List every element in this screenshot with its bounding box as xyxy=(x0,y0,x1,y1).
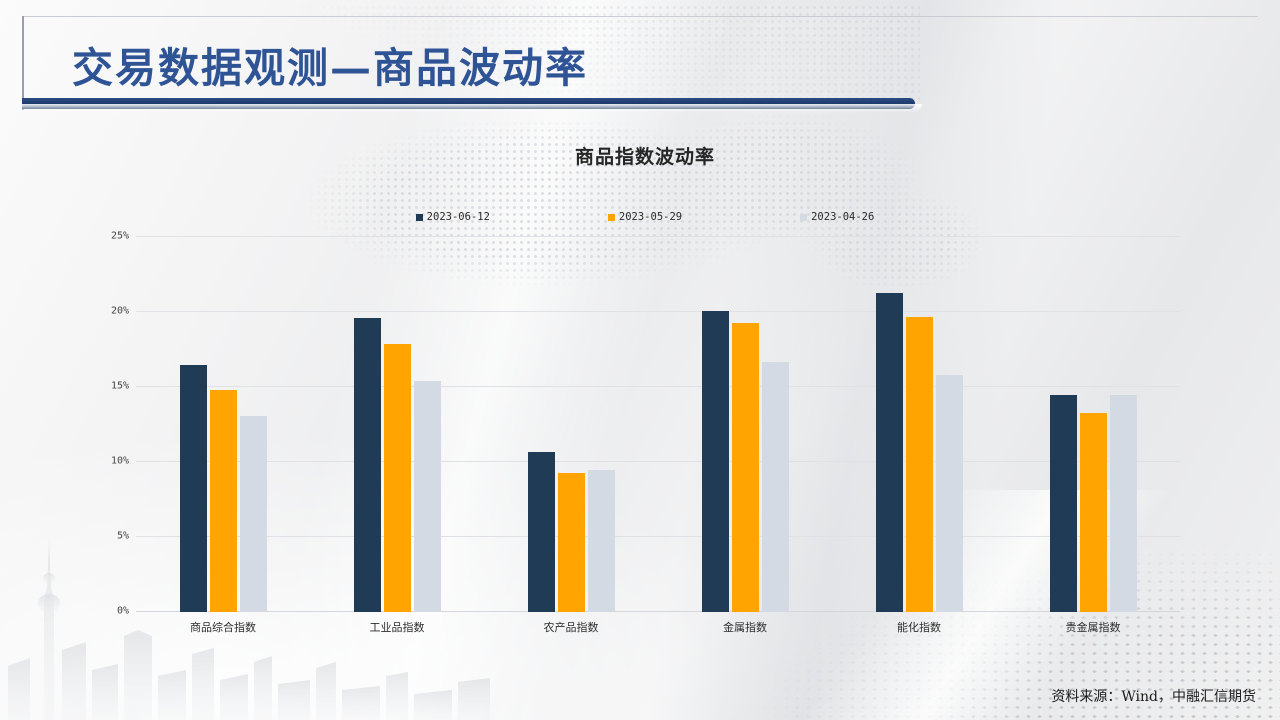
header-left-rule xyxy=(22,16,24,110)
legend-label-2: 2023-04-26 xyxy=(811,211,874,223)
bar[interactable] xyxy=(906,317,933,613)
page-title: 交易数据观测—商品波动率 xyxy=(72,34,588,94)
legend-label-1: 2023-05-29 xyxy=(619,211,682,223)
bar[interactable] xyxy=(240,416,267,613)
chart-title: 商品指数波动率 xyxy=(100,142,1190,169)
bar[interactable] xyxy=(1050,395,1077,613)
x-axis-category-label: 贵金属指数 xyxy=(1006,619,1180,635)
bar-groups xyxy=(136,237,1180,612)
x-axis-category-label: 能化指数 xyxy=(832,619,1006,635)
y-axis-tick-label: 5% xyxy=(117,531,129,542)
bar-group xyxy=(832,237,1006,612)
legend-swatch-icon-1 xyxy=(608,214,615,221)
commodity-volatility-chart: 商品指数波动率 2023-06-12 2023-05-29 2023-04-26… xyxy=(100,130,1190,650)
bar-group xyxy=(484,237,658,612)
bar[interactable] xyxy=(180,365,207,613)
y-axis-tick-label: 15% xyxy=(111,381,129,392)
y-axis-tick-label: 0% xyxy=(117,606,129,617)
legend-swatch-icon-2 xyxy=(800,214,807,221)
legend-item-1[interactable]: 2023-05-29 xyxy=(608,211,682,223)
bar[interactable] xyxy=(414,381,441,612)
bar[interactable] xyxy=(384,344,411,613)
bar-group xyxy=(1006,237,1180,612)
header-accent-bar xyxy=(22,98,915,109)
y-axis-tick-label: 25% xyxy=(111,231,129,242)
bar-group xyxy=(658,237,832,612)
bar[interactable] xyxy=(1080,413,1107,613)
header-top-rule xyxy=(22,16,1258,17)
plot-area: 0%5%10%15%20%25% xyxy=(136,237,1180,612)
bar[interactable] xyxy=(528,452,555,613)
bar[interactable] xyxy=(1110,395,1137,613)
x-axis-labels: 商品综合指数工业品指数农产品指数金属指数能化指数贵金属指数 xyxy=(136,619,1180,635)
y-axis-tick-label: 20% xyxy=(111,306,129,317)
bar[interactable] xyxy=(210,390,237,612)
bar[interactable] xyxy=(588,470,615,613)
source-note: 资料来源：Wind，中融汇信期货 xyxy=(1051,686,1256,706)
bar[interactable] xyxy=(354,318,381,612)
bar[interactable] xyxy=(732,323,759,612)
bar[interactable] xyxy=(558,473,585,613)
bar-group xyxy=(136,237,310,612)
y-axis-tick-label: 10% xyxy=(111,456,129,467)
bar[interactable] xyxy=(702,311,729,613)
bar[interactable] xyxy=(762,362,789,613)
bar[interactable] xyxy=(936,375,963,612)
legend-label-0: 2023-06-12 xyxy=(427,211,490,223)
chart-legend: 2023-06-12 2023-05-29 2023-04-26 xyxy=(100,211,1190,223)
legend-item-0[interactable]: 2023-06-12 xyxy=(416,211,490,223)
legend-item-2[interactable]: 2023-04-26 xyxy=(800,211,874,223)
slide-root: 交易数据观测—商品波动率 商品指数波动率 2023-06-12 2023-05-… xyxy=(0,0,1280,720)
bar-group xyxy=(310,237,484,612)
x-axis-category-label: 商品综合指数 xyxy=(136,619,310,635)
x-axis-category-label: 金属指数 xyxy=(658,619,832,635)
x-axis-category-label: 工业品指数 xyxy=(310,619,484,635)
bar[interactable] xyxy=(876,293,903,612)
x-axis-category-label: 农产品指数 xyxy=(484,619,658,635)
legend-swatch-icon-0 xyxy=(416,214,423,221)
